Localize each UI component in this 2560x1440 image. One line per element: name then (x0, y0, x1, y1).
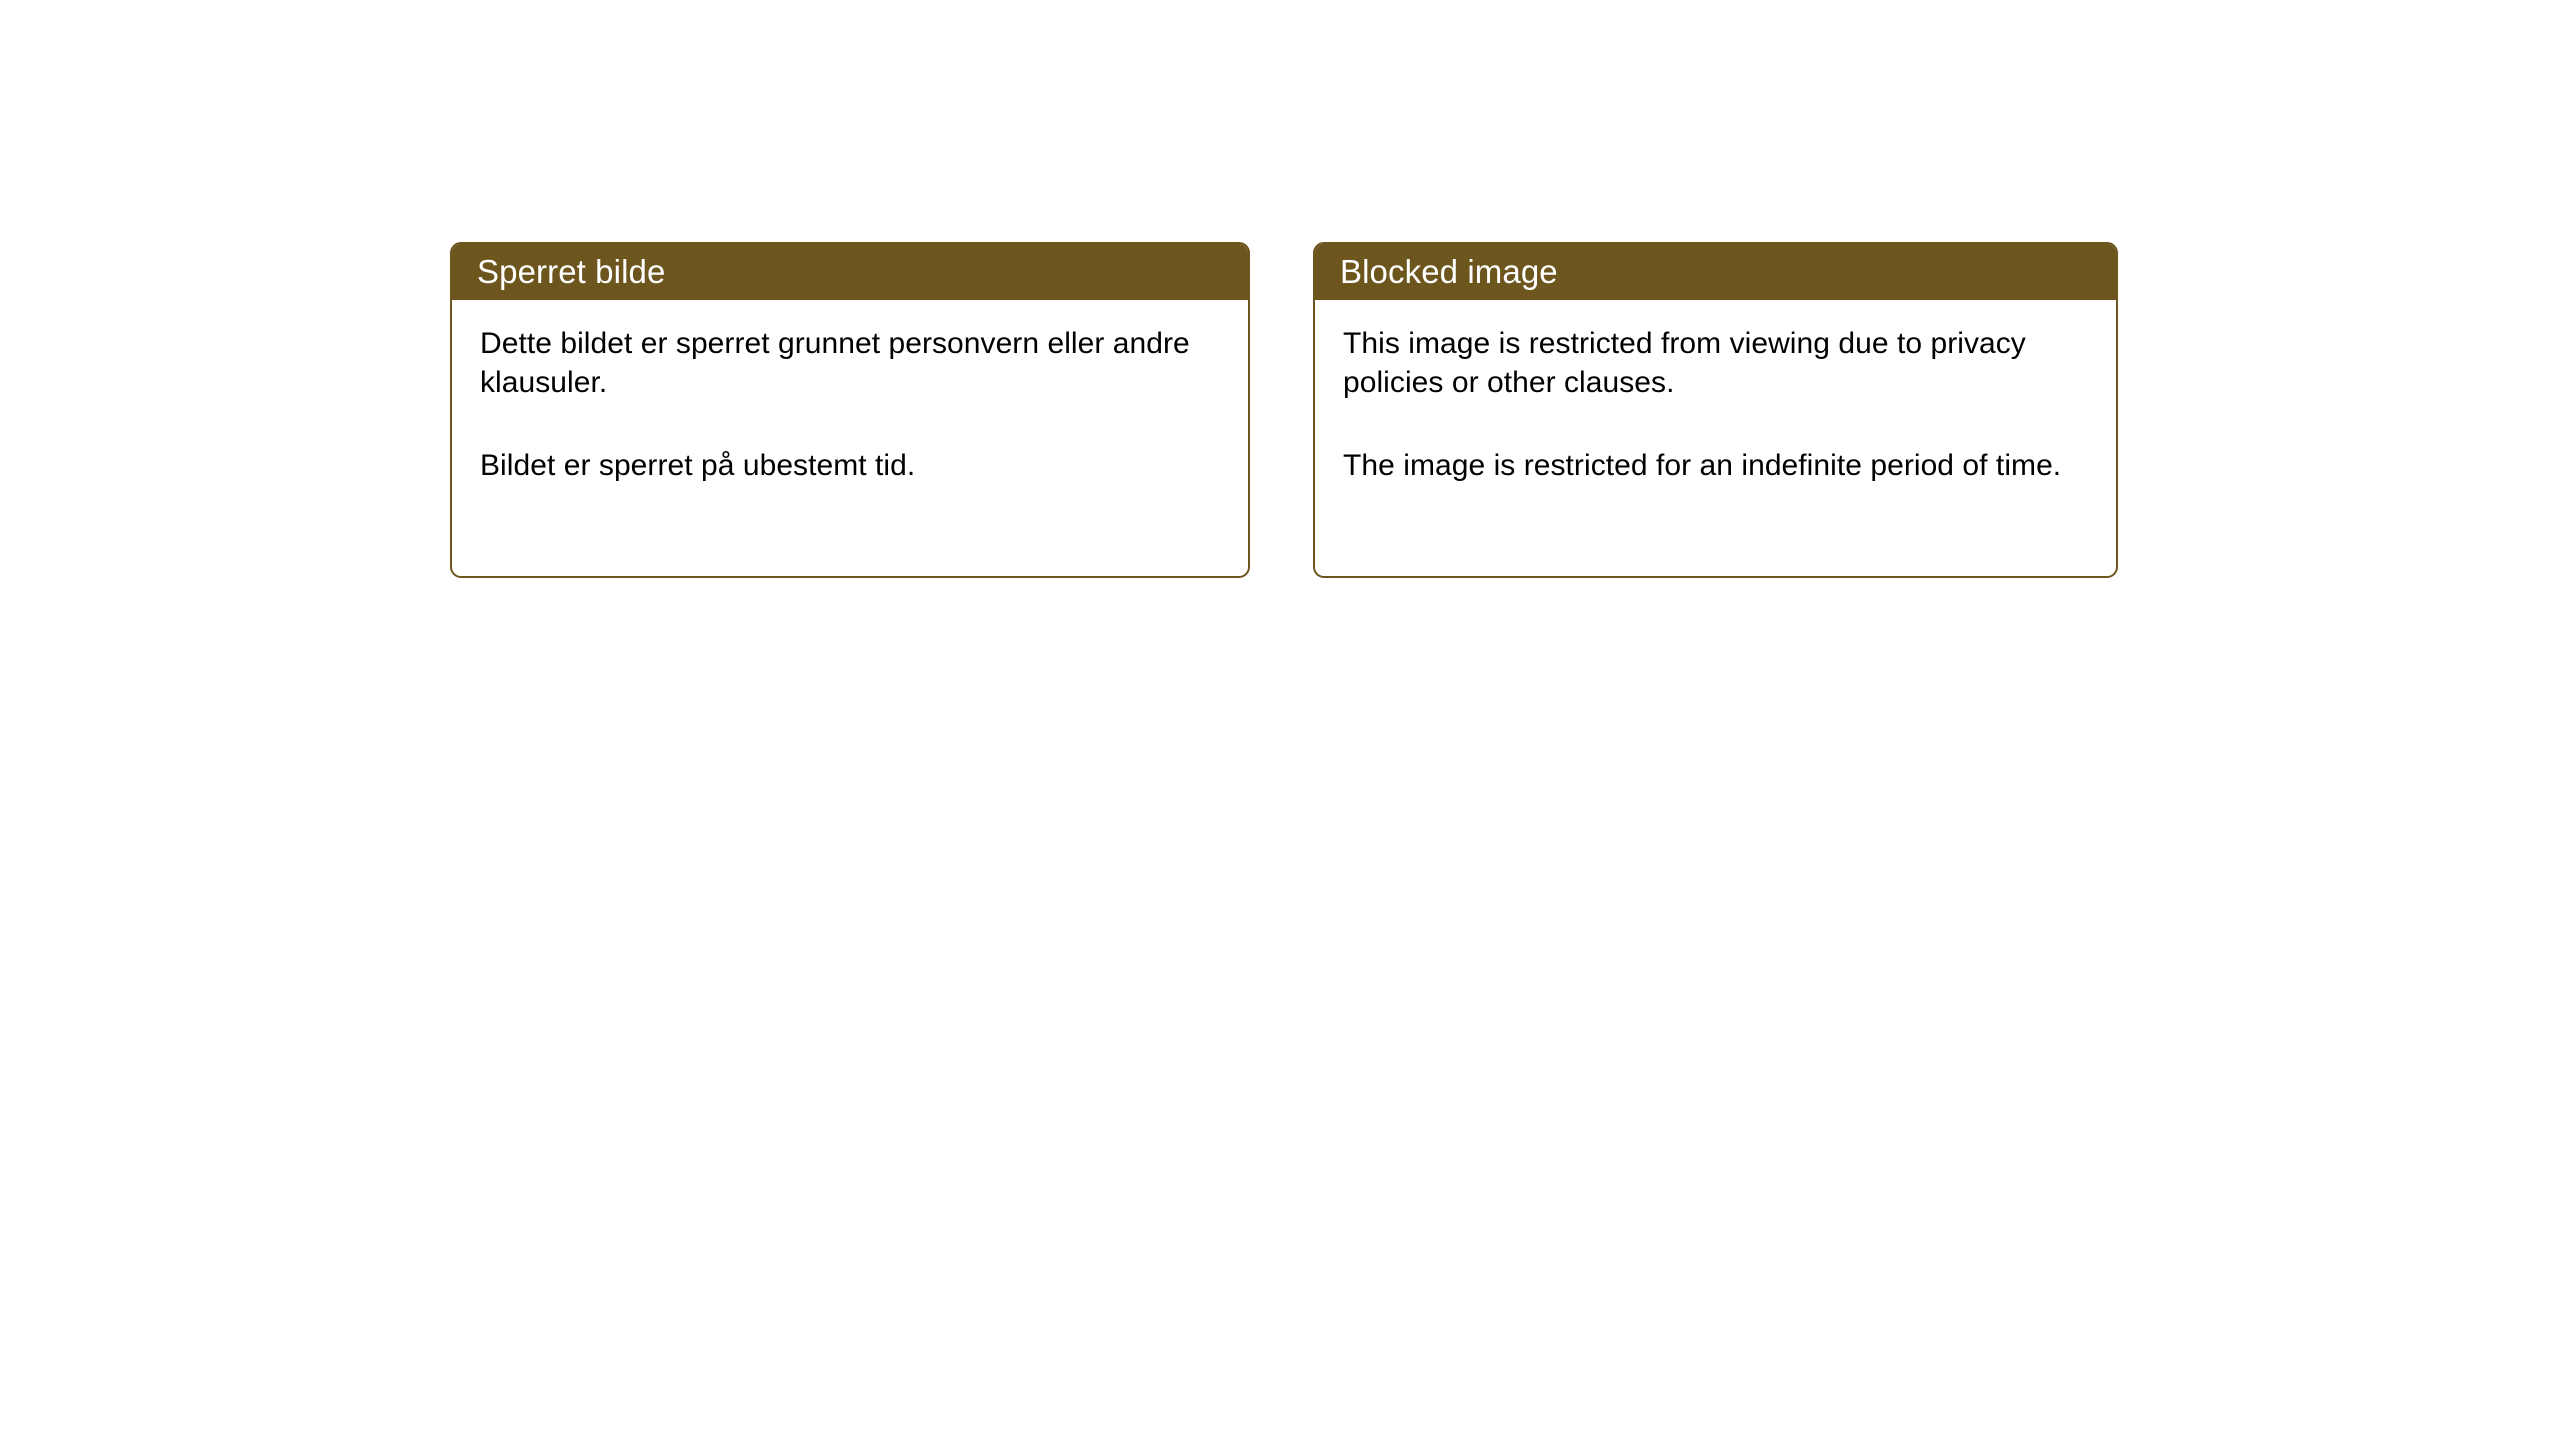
card-title-english: Blocked image (1313, 255, 1558, 288)
card-paragraph-reason-norwegian: Dette bildet er sperret grunnet personve… (480, 324, 1222, 403)
page-root: { "theme": { "accent_color": "#6d561e", … (0, 0, 2560, 1440)
card-header-english: Blocked image (1313, 242, 2118, 300)
card-paragraph-reason-english: This image is restricted from viewing du… (1343, 324, 2090, 403)
blocked-image-card-norwegian: Sperret bilde Dette bildet er sperret gr… (450, 242, 1250, 578)
card-header-norwegian: Sperret bilde (450, 242, 1250, 300)
card-body-norwegian: Dette bildet er sperret grunnet personve… (452, 300, 1248, 576)
card-body-english: This image is restricted from viewing du… (1315, 300, 2116, 576)
card-title-norwegian: Sperret bilde (450, 255, 665, 288)
card-paragraph-duration-english: The image is restricted for an indefinit… (1343, 446, 2090, 485)
card-paragraph-duration-norwegian: Bildet er sperret på ubestemt tid. (480, 446, 1222, 485)
blocked-image-notice-group: Sperret bilde Dette bildet er sperret gr… (450, 242, 2118, 578)
blocked-image-card-english: Blocked image This image is restricted f… (1313, 242, 2118, 578)
